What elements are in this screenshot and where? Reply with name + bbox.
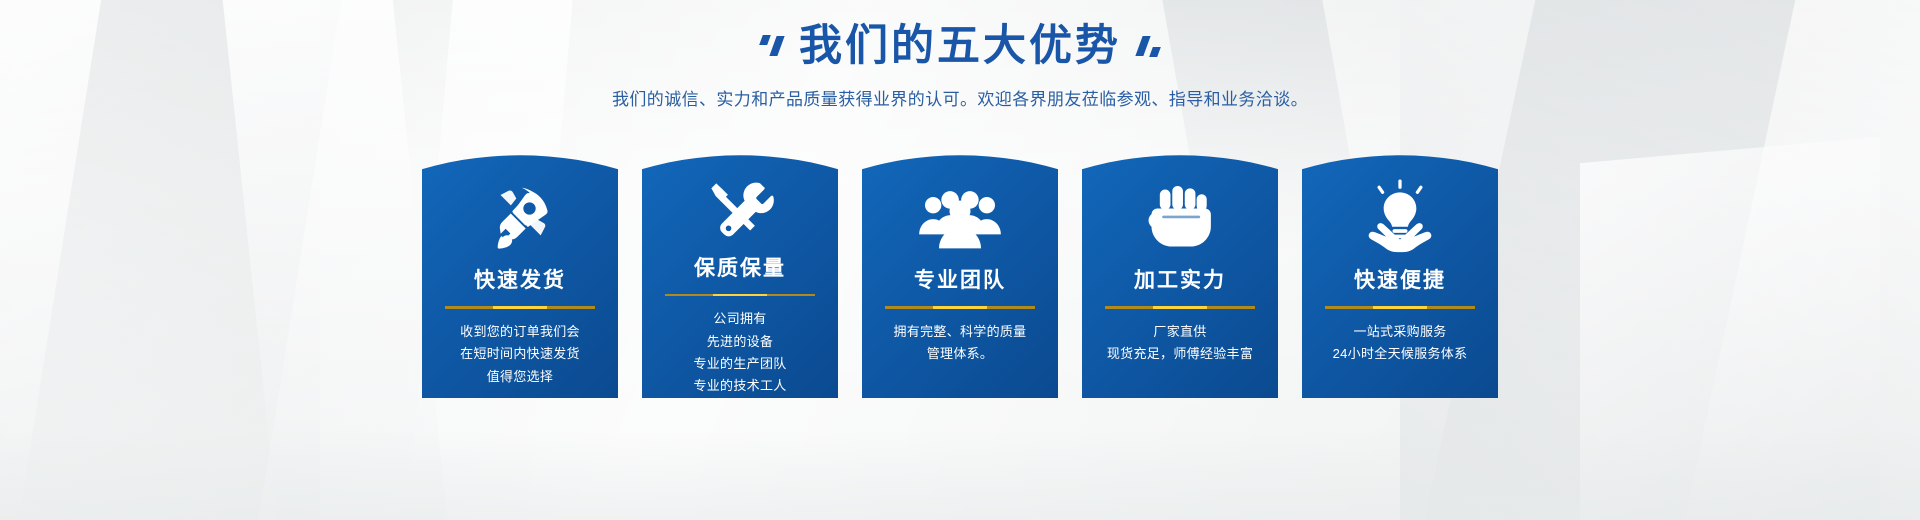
advantage-card-2[interactable]: 保质保量 公司拥有 先进的设备 专业的生产团队 专业的技术工人: [642, 140, 838, 398]
card-title: 加工实力: [1134, 270, 1226, 291]
card-body: 拥有完整、科学的质量 管理体系。: [893, 321, 1026, 366]
card-body: 收到您的订单我们会 在短时间内快速发货 值得您选择: [460, 321, 580, 388]
advantages-section: 我们的五大优势 我们的诚信、实力和产品质量获得业界的认可。欢迎各界朋友莅临参观、…: [0, 0, 1920, 520]
card-body: 一站式采购服务 24小时全天候服务体系: [1333, 321, 1468, 366]
card-title: 专业团队: [914, 270, 1006, 291]
gold-divider: [445, 306, 595, 309]
advantage-card-list: 快速发货 收到您的订单我们会 在短时间内快速发货 值得您选择: [0, 140, 1920, 398]
hands-lightbulb-icon: [1358, 168, 1442, 268]
section-header: 我们的五大优势 我们的诚信、实力和产品质量获得业界的认可。欢迎各界朋友莅临参观、…: [0, 0, 1920, 112]
gold-divider: [1105, 306, 1255, 309]
card-title: 快速发货: [474, 270, 566, 291]
page-title: 我们的五大优势: [799, 25, 1121, 68]
card-body: 公司拥有 先进的设备 专业的生产团队 专业的技术工人: [693, 308, 786, 397]
advantage-card-4[interactable]: 加工实力 厂家直供 现货充足，师傅经验丰富: [1082, 140, 1278, 398]
team-people-icon: [918, 168, 1002, 268]
diamond-marks-left-icon: [761, 29, 781, 63]
rocket-icon: [482, 168, 558, 268]
gold-divider: [665, 294, 815, 297]
wrench-screwdriver-icon: [701, 168, 779, 256]
fist-icon: [1144, 168, 1216, 268]
card-title: 保质保量: [694, 258, 786, 279]
gold-divider: [885, 306, 1035, 309]
title-row: 我们的五大优势: [0, 18, 1920, 74]
advantage-card-5[interactable]: 快速便捷 一站式采购服务 24小时全天候服务体系: [1302, 140, 1498, 398]
advantage-card-3[interactable]: 专业团队 拥有完整、科学的质量 管理体系。: [862, 140, 1058, 398]
advantage-card-1[interactable]: 快速发货 收到您的订单我们会 在短时间内快速发货 值得您选择: [422, 140, 618, 398]
gold-divider: [1325, 306, 1475, 309]
card-title: 快速便捷: [1354, 270, 1446, 291]
section-subtitle: 我们的诚信、实力和产品质量获得业界的认可。欢迎各界朋友莅临参观、指导和业务洽谈。: [0, 88, 1920, 112]
card-body: 厂家直供 现货充足，师傅经验丰富: [1107, 321, 1253, 366]
diamond-marks-right-icon: [1139, 29, 1159, 63]
